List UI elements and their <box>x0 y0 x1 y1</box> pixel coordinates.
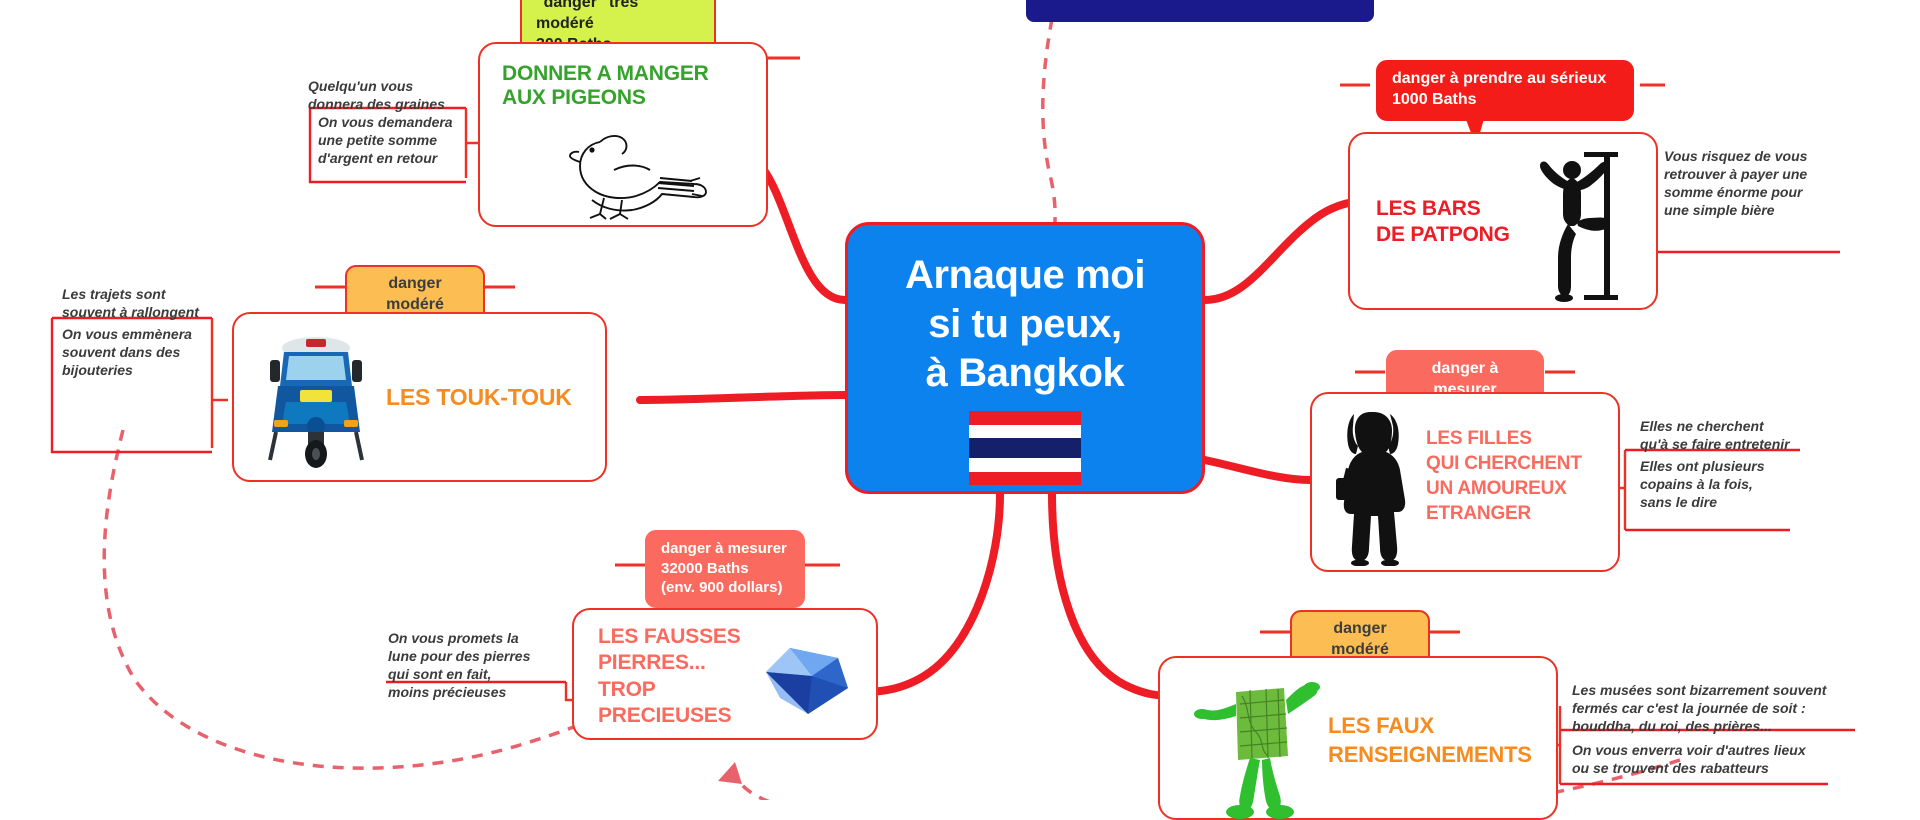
link-central-filles <box>1205 460 1310 480</box>
green-map-character-illustration <box>1188 674 1328 820</box>
note-pigeons-2: On vous demandera une petite somme d'arg… <box>318 114 470 168</box>
note-patpong-1: Vous risquez de vous retrouver à payer u… <box>1664 148 1860 220</box>
central-node[interactable]: Arnaque moi si tu peux, à Bangkok <box>845 222 1205 494</box>
note-filles-1: Elles ne cherchent qu'à se faire entrete… <box>1640 418 1840 454</box>
link-central-renseignements <box>1052 494 1172 696</box>
note-renseignements-2: On vous enverra voir d'autres lieux ou s… <box>1572 742 1862 778</box>
node-pigeons[interactable]: DONNER A MANGER AUX PIGEONS <box>478 42 768 227</box>
node-patpong-label: LES BARS DE PATPONG <box>1376 196 1510 249</box>
tuktuk-illustration <box>256 328 376 470</box>
woman-silhouette-illustration <box>1330 406 1422 566</box>
node-pigeons-label: DONNER A MANGER AUX PIGEONS <box>502 62 709 110</box>
badge-pierres: danger à mesurer 32000 Baths (env. 900 d… <box>645 530 805 608</box>
node-pierres-label: LES FAUSSES PIERRES... TROP PRECIEUSES <box>598 624 741 730</box>
node-filles-label: LES FILLES QUI CHERCHENT UN AMOUREUX ETR… <box>1426 426 1582 526</box>
badge-patpong: danger à prendre au sérieux 1000 Baths <box>1376 60 1634 121</box>
note-pigeons-1: Quelqu'un vous donnera des graines <box>308 78 468 114</box>
dashed-arrowhead-right <box>718 762 742 784</box>
node-renseignements-label: LES FAUX RENSEIGNEMENTS <box>1328 712 1532 769</box>
thailand-flag-icon <box>969 411 1081 485</box>
gemstone-illustration <box>750 636 860 722</box>
note-touktouk-1: Les trajets sont souvent à rallongent <box>62 286 222 322</box>
link-central-touktouk <box>640 395 845 400</box>
note-pierres-1: On vous promets la lune pour des pierres… <box>388 630 568 702</box>
note-filles-2: Elles ont plusieurs copains à la fois, s… <box>1640 458 1826 512</box>
central-title: Arnaque moi si tu peux, à Bangkok <box>905 251 1145 397</box>
node-touktouk-label: LES TOUK-TOUK <box>386 384 572 410</box>
node-patpong[interactable]: LES BARS DE PATPONG <box>1348 132 1658 310</box>
node-touktouk[interactable]: LES TOUK-TOUK <box>232 312 607 482</box>
note-renseignements-1: Les musées sont bizarrement souvent ferm… <box>1572 682 1872 736</box>
node-filles[interactable]: LES FILLES QUI CHERCHENT UN AMOUREUX ETR… <box>1310 392 1620 572</box>
node-pierres[interactable]: LES FAUSSES PIERRES... TROP PRECIEUSES <box>572 608 878 740</box>
note-touktouk-2: On vous emmènera souvent dans des bijout… <box>62 326 220 380</box>
link-central-pierres <box>865 494 1000 692</box>
pole-dancer-illustration <box>1528 148 1634 304</box>
mindmap-canvas: 80 Trades" Arnaque moi si tu peux, à Ban… <box>0 0 1920 800</box>
pigeon-illustration <box>544 126 714 224</box>
node-renseignements[interactable]: LES FAUX RENSEIGNEMENTS <box>1158 656 1558 820</box>
top-banner[interactable]: 80 Trades" <box>1026 0 1374 22</box>
